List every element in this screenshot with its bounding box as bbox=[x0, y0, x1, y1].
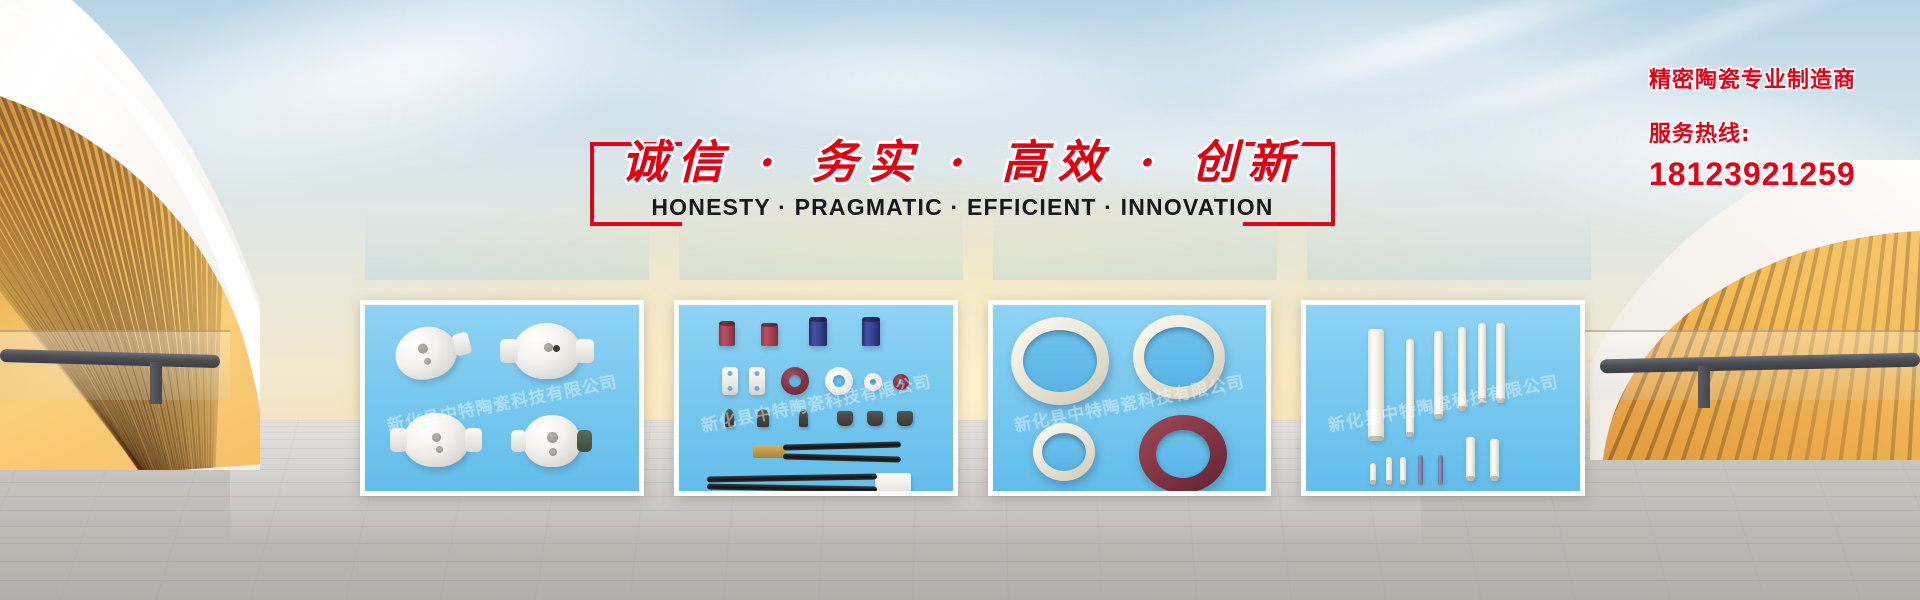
connector-sleeve bbox=[719, 321, 735, 346]
connector-sleeve bbox=[809, 317, 827, 346]
panel-image: 新化县中特陶瓷科技有限公司 bbox=[365, 305, 639, 491]
ceramic-plate bbox=[722, 367, 738, 395]
brass-terminal bbox=[753, 445, 785, 458]
metal-clip bbox=[897, 411, 913, 426]
ceramic-rod bbox=[1434, 331, 1443, 419]
panel-reflection bbox=[993, 196, 1277, 280]
ceramic-ring-large bbox=[1133, 315, 1225, 399]
panel-reflection bbox=[365, 196, 649, 280]
ceramic-ring-large bbox=[1011, 317, 1109, 405]
ceramic-rod bbox=[1368, 329, 1384, 441]
metal-clip bbox=[799, 409, 808, 427]
ceramic-rod bbox=[1458, 327, 1466, 411]
ceramic-ring-small bbox=[893, 374, 909, 390]
ceramic-plate bbox=[749, 367, 765, 395]
hotline-label: 服务热线: bbox=[1649, 116, 1856, 148]
lead-wire bbox=[707, 474, 877, 483]
right-canopy-structure bbox=[1590, 160, 1920, 460]
panel-image: 新化县中特陶瓷科技有限公司 bbox=[993, 305, 1267, 491]
connector-sleeve bbox=[761, 323, 778, 346]
lamp-holder-part bbox=[390, 320, 463, 385]
metal-clip bbox=[837, 411, 853, 426]
lamp-holder-part bbox=[523, 415, 581, 467]
lamp-holder-part bbox=[403, 413, 469, 467]
connector-sleeve bbox=[862, 317, 880, 346]
ceramic-rod-short bbox=[1400, 457, 1406, 485]
panel-watermark: 新化县中特陶瓷科技有限公司 bbox=[1326, 367, 1560, 436]
ceramic-rod bbox=[1478, 323, 1486, 403]
ceramic-ring-small bbox=[781, 367, 809, 395]
lead-wire bbox=[783, 441, 901, 450]
ceramic-rod-short bbox=[1386, 457, 1392, 485]
product-panel-ceramic-rings[interactable]: 新化县中特陶瓷科技有限公司 bbox=[988, 300, 1272, 496]
hotline-number[interactable]: 18123921259 bbox=[1649, 156, 1856, 193]
ceramic-rod-short bbox=[1370, 463, 1376, 485]
metal-clip bbox=[757, 409, 769, 427]
ceramic-ring-small bbox=[864, 373, 882, 391]
ceramic-rod bbox=[1496, 323, 1505, 403]
lamp-holder-part bbox=[513, 323, 581, 379]
metal-clip bbox=[725, 409, 734, 427]
product-panel-ceramic-lamp-holders[interactable]: 新化县中特陶瓷科技有限公司 bbox=[360, 300, 644, 496]
panel-reflection bbox=[679, 196, 963, 280]
panel-image: 新化县中特陶瓷科技有限公司 bbox=[679, 305, 953, 491]
panel-image: 新化县中特陶瓷科技有限公司 bbox=[1306, 305, 1580, 491]
company-tagline: 精密陶瓷专业制造商 bbox=[1649, 62, 1856, 94]
ceramic-rod-violet bbox=[1438, 455, 1443, 485]
product-panel-group: 新化县中特陶瓷科技有限公司 bbox=[360, 300, 1585, 500]
lead-wire bbox=[783, 453, 901, 462]
ceramic-ring-medium bbox=[1033, 423, 1095, 481]
product-panel-ceramic-connectors[interactable]: 新化县中特陶瓷科技有限公司 bbox=[674, 300, 958, 496]
ceramic-rod bbox=[1406, 339, 1414, 437]
handrail-post bbox=[1698, 366, 1710, 408]
ceramic-rod-short bbox=[1490, 439, 1499, 481]
ceramic-rod-violet bbox=[1418, 455, 1423, 485]
slogan-chinese: 诚信 · 务实 · 高效 · 创新 bbox=[590, 126, 1335, 192]
product-panel-ceramic-rods[interactable]: 新化县中特陶瓷科技有限公司 bbox=[1301, 300, 1585, 496]
ceramic-ring-small bbox=[825, 367, 853, 395]
wire-connector-block bbox=[875, 473, 911, 491]
promotional-banner: 诚信 · 务实 · 高效 · 创新 HONESTY · PRAGMATIC · … bbox=[0, 0, 1920, 600]
metal-clip bbox=[867, 411, 883, 426]
ceramic-rod-short bbox=[1466, 437, 1475, 481]
ceramic-ring-wine bbox=[1139, 415, 1227, 491]
handrail-post bbox=[150, 362, 162, 404]
panel-reflection bbox=[1307, 196, 1591, 280]
contact-block: 精密陶瓷专业制造商 服务热线: 18123921259 bbox=[1649, 62, 1856, 193]
lead-wire bbox=[707, 484, 877, 491]
